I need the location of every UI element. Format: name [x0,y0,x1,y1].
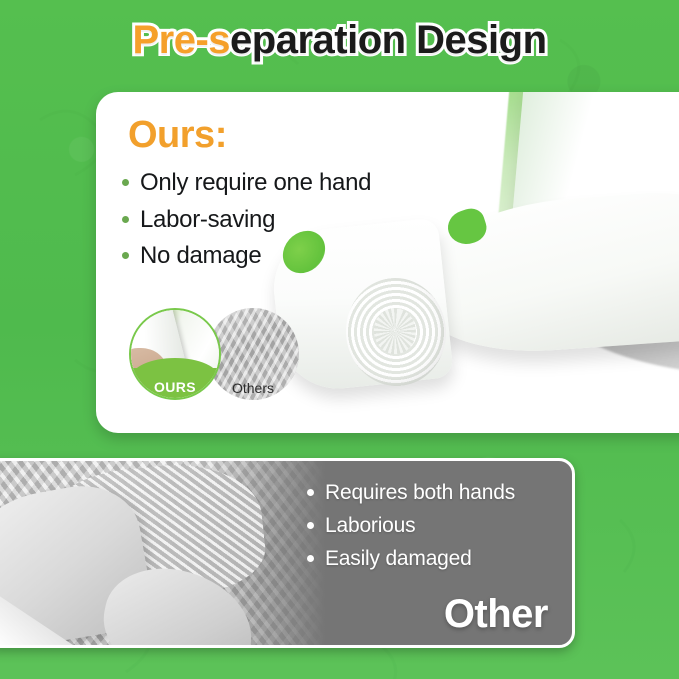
list-item-label: Requires both hands [325,481,515,504]
list-item-label: Laborious [325,514,415,537]
bullet-dot-icon [307,522,314,529]
ours-thumbnail-label: OURS [131,379,219,395]
list-item: Only require one hand [118,168,448,199]
ours-heading: Ours: [128,114,227,157]
title-orange-part: Pre-s [132,18,230,62]
list-item-label: No damage [140,242,261,269]
other-bullet-list: Requires both hands Laborious Easily dam… [307,479,567,578]
bullet-dot-icon [122,216,129,223]
page-title: Pre-separation Design [0,20,679,60]
bullet-dot-icon [307,555,314,562]
ours-bullet-list: Only require one hand Labor-saving No da… [118,168,448,278]
list-item-label: Only require one hand [140,169,371,196]
list-item-label: Labor-saving [140,206,275,233]
ours-card: Ours: Only require one hand Labor-saving… [96,92,679,433]
bullet-dot-icon [122,252,129,259]
list-item: No damage [118,241,448,272]
list-item: Laborious [307,512,567,540]
hands-photo [0,461,325,645]
list-item-label: Easily damaged [325,547,472,570]
others-thumbnail-label: Others [207,380,299,396]
comparison-thumbnails: Others OURS [129,308,314,408]
infographic-canvas: Pre-separation Design Ours: Only require… [0,0,679,679]
list-item: Easily damaged [307,545,567,573]
other-panel: Requires both hands Laborious Easily dam… [0,458,575,648]
list-item: Labor-saving [118,205,448,236]
ours-thumbnail: OURS [129,308,221,400]
bullet-dot-icon [122,179,129,186]
title-dark-part: eparation Design [230,18,547,62]
list-item: Requires both hands [307,479,567,507]
bullet-dot-icon [307,489,314,496]
other-panel-title: Other [444,592,548,637]
